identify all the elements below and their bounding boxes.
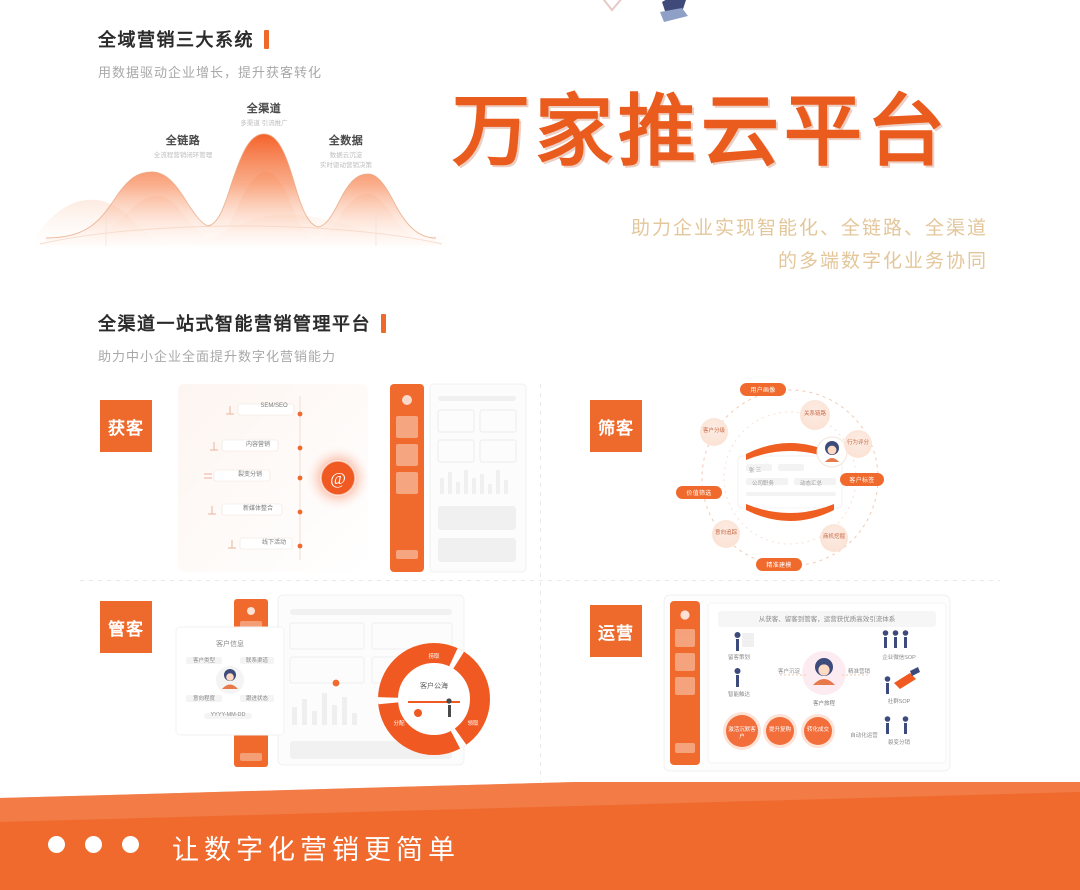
banner-dot-2 [122, 836, 139, 853]
three-systems-chart: 全链路 全流程营销闭环管理 全渠道 多渠道 引流推广 全数据 数据云沉淀 实时驱… [36, 96, 446, 261]
customer-card-title: 客户信息 [202, 639, 258, 649]
feature-grid: 获客 [60, 378, 1020, 788]
channel-label-0: SEM/SEO [246, 403, 302, 409]
screening-pill-3[interactable]: 价值筛选 [676, 486, 722, 499]
operations-bubble-1: 提升复购 [766, 727, 794, 734]
section-two-heading: 全渠道一站式智能营销管理平台 助力中小企业全面提升数字化营销能力 [98, 310, 386, 365]
hero-subtitle-line-2: 的多端数字化业务协同 [631, 245, 988, 278]
operations-right-1: 社群SOP [878, 697, 920, 705]
peak-label-0: 全链路 全流程营销闭环管理 [128, 132, 238, 161]
operations-flow-0: 客户沉淀 [772, 667, 806, 675]
profile-field-1: 动态汇总 [790, 479, 832, 487]
operations-right-2: 裂变分销 [878, 738, 920, 746]
screening-tag-4: 商机挖掘 [820, 524, 848, 552]
customer-field-1: 联系渠道 [240, 656, 274, 664]
feature-badge-operations[interactable]: 运营 [590, 605, 642, 657]
customer-card-date: YYYY-MM-DD [204, 712, 252, 718]
screening-tag-3: 意向追踪 [712, 520, 740, 548]
grid-divider-horizontal [80, 580, 1000, 581]
title-accent-bar-2 [381, 314, 386, 333]
banner-dot-1 [85, 836, 102, 853]
customer-field-0: 客户类型 [186, 656, 222, 664]
donut-label-1: 分配 [384, 719, 414, 727]
feature-badge-management[interactable]: 管客 [100, 601, 152, 653]
peak-label-2: 全数据 数据云沉淀 实时驱动营销决策 [286, 132, 406, 171]
screening-pill-1[interactable]: 精准建模 [756, 558, 802, 571]
operations-left-0: 留客策划 [724, 653, 754, 661]
profile-name: 张 三 [742, 466, 768, 474]
feature-cell-acquisition[interactable]: 获客 [60, 378, 530, 578]
profile-footer: 智能客服在线沟通洽谈 [742, 502, 832, 510]
section-one-heading: 全域营销三大系统 用数据驱动企业增长，提升获客转化 [98, 26, 322, 81]
banner-tagline: 让数字化营销更简单 [172, 828, 460, 867]
operations-bubble-note: 自动化运营 [846, 731, 882, 739]
operations-center-label: 客户旅程 [806, 699, 842, 707]
acquisition-illustration: @ [178, 378, 528, 578]
donut-label-2: 领取 [458, 719, 488, 727]
section-one-subtitle: 用数据驱动企业增长，提升获客转化 [98, 62, 322, 81]
section-two-title: 全渠道一站式智能营销管理平台 [98, 310, 386, 336]
customer-field-3: 跟进状态 [240, 694, 274, 702]
operations-headline: 从获客、留客到管客，运营获优质高效引流体系 [718, 613, 936, 623]
operations-illustration: 从获客、留客到管客，运营获优质高效引流体系 留客策划 智能触达 企业微信SOP … [660, 583, 960, 783]
management-illustration: 客户信息 客户类型 联系渠道 意向程度 跟进状态 YYYY-MM-DD 客户公海… [172, 583, 522, 783]
screening-illustration: 用户画像 客户标签 价值筛选 精准建模 客户分级 关系链路 行为评分 意向追踪 … [660, 378, 1010, 578]
channel-label-4: 线下活动 [248, 537, 300, 546]
customer-field-2: 意向程度 [186, 694, 222, 702]
operations-bubble-2: 转化成交 [804, 727, 832, 734]
hero-subtitle-line-1: 助力企业实现智能化、全链路、全渠道 [631, 212, 988, 245]
feature-cell-management[interactable]: 管客 [60, 583, 530, 783]
feature-cell-operations[interactable]: 运营 [550, 583, 1020, 783]
section-one-title: 全域营销三大系统 [98, 26, 322, 52]
screening-pill-0[interactable]: 用户画像 [740, 383, 786, 396]
operations-left-1: 智能触达 [724, 690, 754, 698]
donut-center-label: 客户公海 [408, 681, 460, 691]
donut-label-0: 捞取 [412, 652, 456, 660]
feature-badge-acquisition[interactable]: 获客 [100, 400, 152, 452]
screening-tag-1: 关系链路 [800, 400, 830, 430]
channel-label-1: 内容营销 [230, 439, 286, 448]
screening-tag-2: 行为评分 [844, 430, 872, 458]
hero-subtitle: 助力企业实现智能化、全链路、全渠道 的多端数字化业务协同 [631, 212, 988, 279]
operations-right-0: 企业微信SOP [878, 653, 920, 661]
section-two-title-text: 全渠道一站式智能营销管理平台 [98, 310, 371, 336]
section-one-title-text: 全域营销三大系统 [98, 26, 254, 52]
top-decoration [0, 0, 1080, 26]
banner-dots [48, 836, 139, 853]
page-title: 万家推云平台 [452, 92, 950, 170]
feature-cell-screening[interactable]: 筛客 [550, 378, 1020, 578]
banner-dot-0 [48, 836, 65, 853]
operations-flow-1: 精准营销 [842, 667, 876, 675]
promo-poster: 全域营销三大系统 用数据驱动企业增长，提升获客转化 [0, 0, 1080, 890]
screening-tag-0: 客户分级 [700, 418, 728, 446]
channel-label-2: 裂变分销 [222, 469, 278, 478]
channel-label-3: 新媒体整合 [228, 503, 288, 512]
operations-bubble-0: 激活沉默客户 [726, 727, 758, 741]
grid-divider-vertical [540, 384, 541, 782]
section-two-subtitle: 助力中小企业全面提升数字化营销能力 [98, 346, 386, 365]
bottom-banner: 让数字化营销更简单 [0, 782, 1080, 890]
svg-text:@: @ [330, 469, 346, 488]
screening-pill-2[interactable]: 客户标签 [840, 473, 884, 486]
title-accent-bar [264, 30, 269, 49]
profile-field-0: 公司职务 [742, 479, 784, 487]
peak-label-1: 全渠道 多渠道 引流推广 [209, 100, 319, 129]
feature-badge-screening[interactable]: 筛客 [590, 400, 642, 452]
